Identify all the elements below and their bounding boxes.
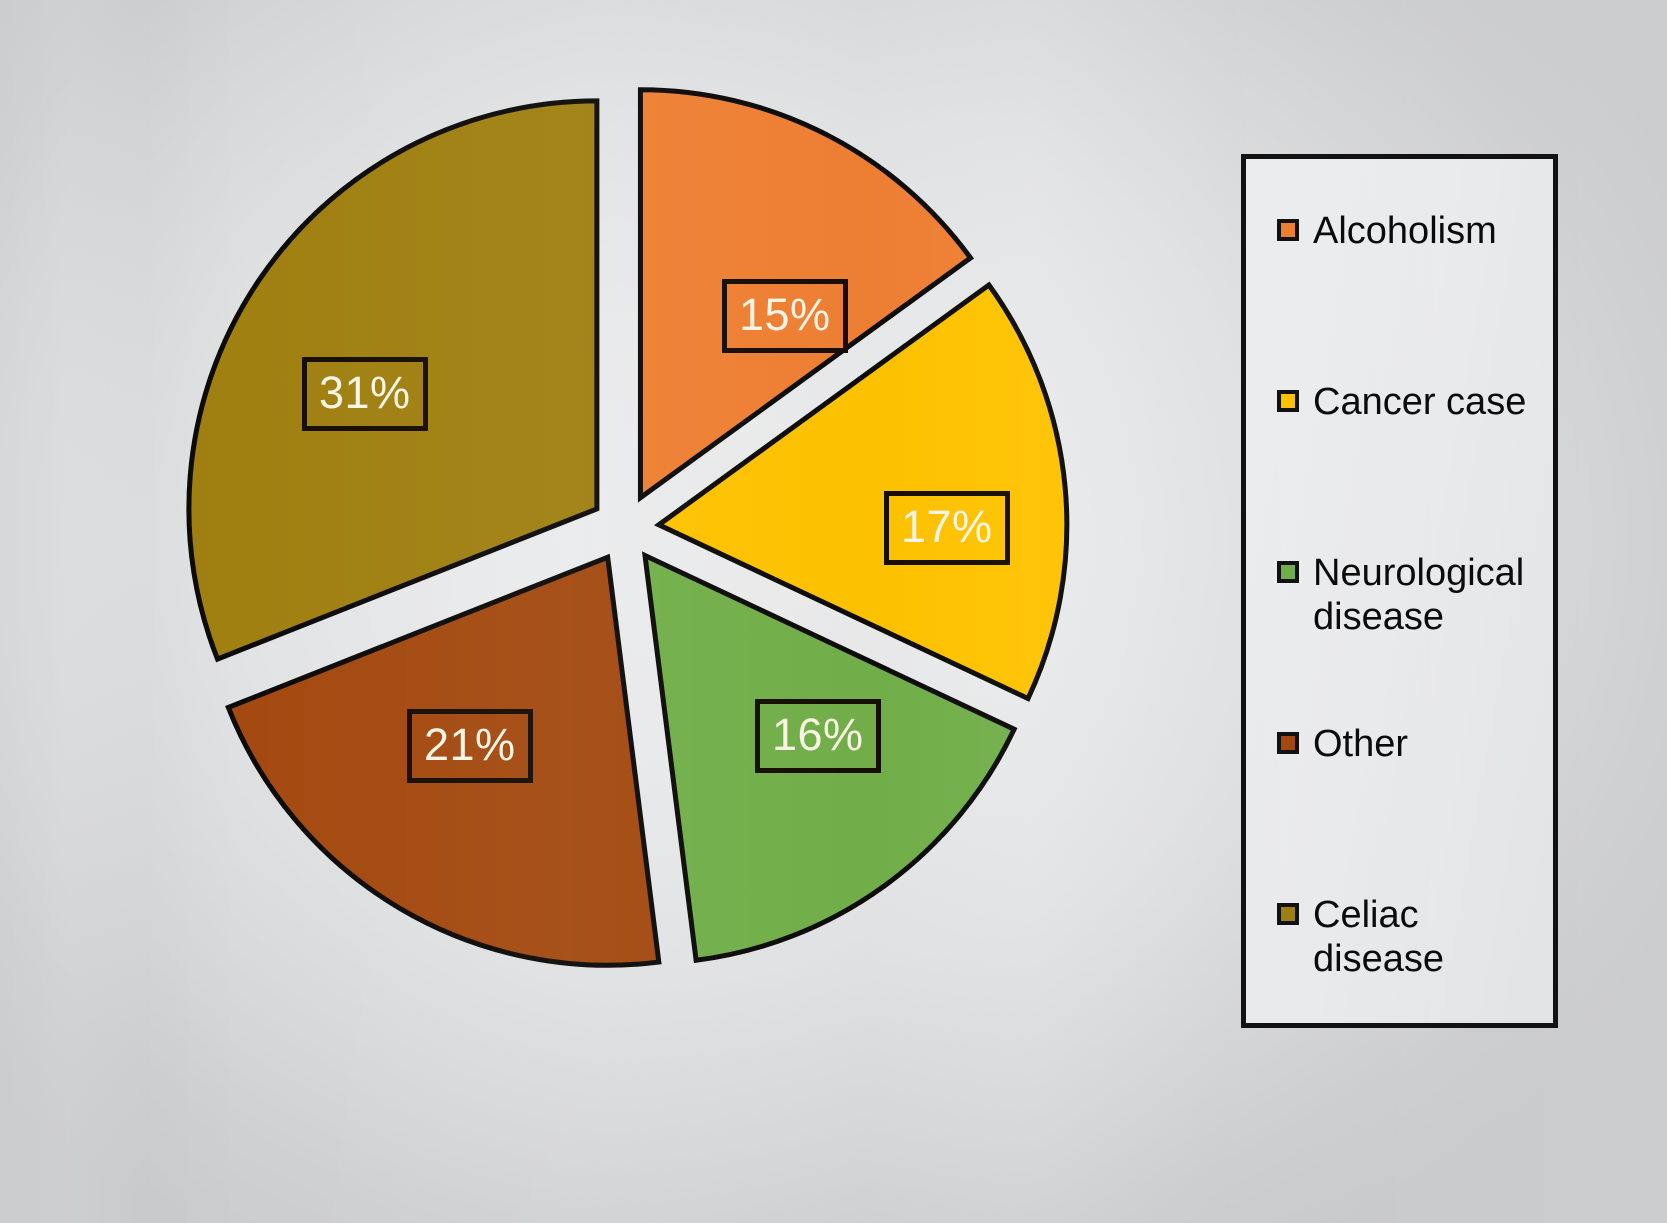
slice-label-text: 16% (772, 709, 864, 760)
slice-label-celiac-disease: 31% (302, 357, 428, 431)
legend-swatch-icon (1277, 561, 1299, 583)
legend-item-celiac-disease[interactable]: Celiac disease (1277, 893, 1553, 981)
figure-canvas: 15% 17% 16% 21% 31% Alcoholism Cancer ca… (0, 0, 1667, 1223)
legend-item-label: Celiac disease (1313, 893, 1553, 981)
slice-label-cancer-case: 17% (884, 491, 1010, 565)
legend-item-label: Other (1313, 722, 1408, 766)
slice-label-alcoholism: 15% (722, 279, 848, 353)
slice-label-text: 31% (319, 367, 411, 418)
legend-swatch-icon (1277, 390, 1299, 412)
legend-swatch-icon (1277, 219, 1299, 241)
slice-label-other: 21% (407, 709, 533, 783)
legend-item-label: Cancer case (1313, 380, 1526, 424)
legend-item-label: Neurological disease (1313, 551, 1553, 639)
legend-item-cancer-case[interactable]: Cancer case (1277, 380, 1526, 424)
legend-item-alcoholism[interactable]: Alcoholism (1277, 209, 1497, 253)
slice-label-neurological-disease: 16% (755, 699, 881, 773)
legend: Alcoholism Cancer case Neurological dise… (1241, 154, 1558, 1028)
slice-label-text: 21% (424, 719, 516, 770)
legend-swatch-icon (1277, 732, 1299, 754)
slice-label-text: 17% (901, 501, 993, 552)
legend-item-label: Alcoholism (1313, 209, 1497, 253)
legend-swatch-icon (1277, 903, 1299, 925)
slice-label-text: 15% (739, 289, 831, 340)
legend-item-neurological-disease[interactable]: Neurological disease (1277, 551, 1553, 639)
legend-item-other[interactable]: Other (1277, 722, 1408, 766)
